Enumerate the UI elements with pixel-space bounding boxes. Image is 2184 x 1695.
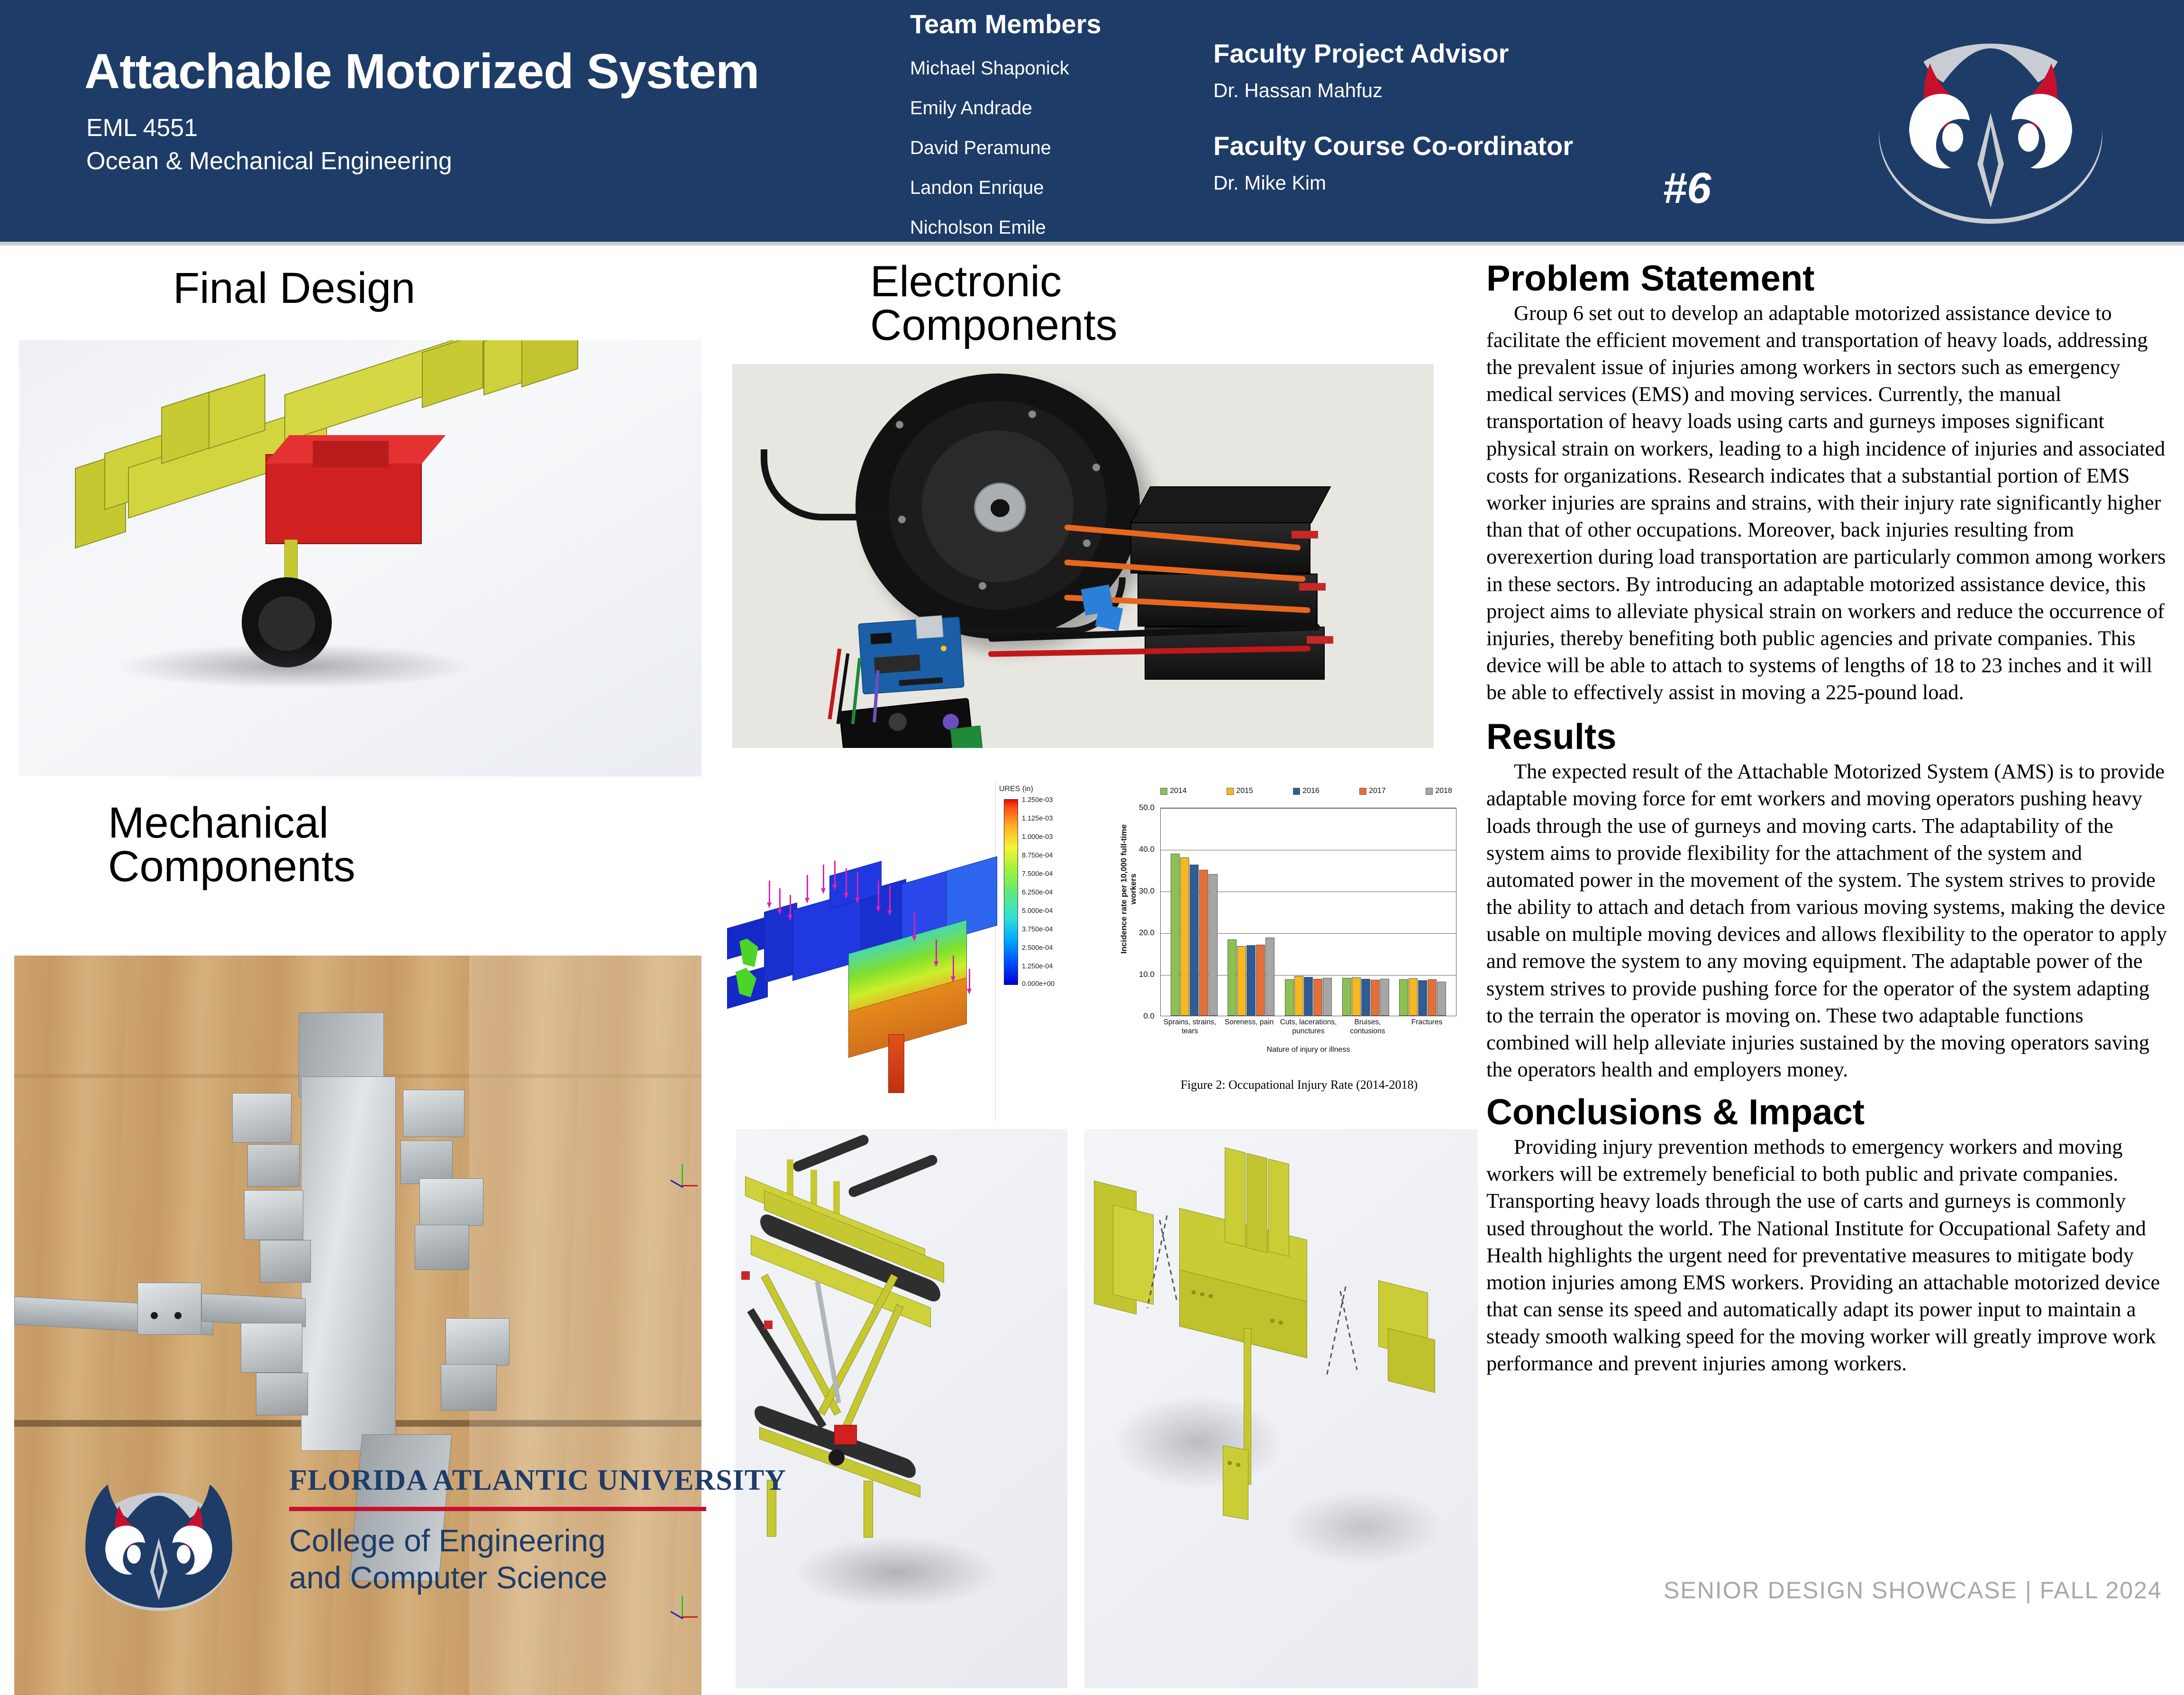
fau-owl-logo-footer-icon (59, 1450, 258, 1640)
chart-bar (1294, 976, 1303, 1016)
chart-category-group (1171, 808, 1218, 1016)
fea-tick: 0.000e+00 (1022, 980, 1055, 988)
chart-bar (1437, 982, 1446, 1016)
faculty-coordinator-name: Dr. Mike Kim (1213, 172, 1573, 194)
fea-displacement-plot: URES (in) 1.250e-03 1.125e-03 1.000e-03 … (713, 780, 1106, 1121)
team-member-name: Landon Enrique (910, 177, 1101, 199)
chart-x-tick-label: Sprains, strains, tears (1160, 1018, 1219, 1036)
chart-bar (1265, 938, 1274, 1016)
chart-bar (1323, 978, 1332, 1016)
chart-legend-item: 2017 (1359, 787, 1386, 795)
chart-y-tick-label: 10.0 (1126, 970, 1155, 979)
college-line2: and Computer Science (289, 1560, 607, 1595)
electronic-components-photo (732, 364, 1434, 748)
fau-wordmark: FLORIDA ATLANTIC UNIVERSITY College of E… (289, 1464, 706, 1596)
chart-category-group (1285, 808, 1332, 1016)
faculty-advisor-heading: Faculty Project Advisor (1213, 38, 1573, 69)
electronic-components-heading: Electronic Components (870, 260, 1297, 347)
chart-bar (1342, 978, 1351, 1016)
legend-swatch (1426, 788, 1433, 795)
chart-caption: Figure 2: Occupational Injury Rate (2014… (1107, 1078, 1491, 1092)
exploded-bracket-cad-render (1084, 1129, 1478, 1688)
chart-bar (1399, 979, 1408, 1016)
chart-y-tick-label: 0.0 (1126, 1012, 1155, 1021)
fea-tick: 1.125e-03 (1022, 815, 1053, 822)
chart-x-tick-label: Fractures (1397, 1018, 1456, 1036)
chart-x-tick-label: Bruises, contusions (1338, 1018, 1397, 1036)
chart-bar (1256, 945, 1265, 1016)
chart-bars (1161, 808, 1456, 1016)
gurney-cad-render (736, 1129, 1067, 1688)
chart-legend-item: 2014 (1160, 787, 1187, 795)
conclusions-text: Providing injury prevention methods to e… (1486, 1133, 2169, 1377)
university-name: FLORIDA ATLANTIC UNIVERSITY (289, 1464, 706, 1497)
chart-bar (1228, 939, 1237, 1016)
chart-category-group (1399, 808, 1446, 1016)
fea-tick: 1.250e-03 (1022, 796, 1053, 804)
fea-tick: 1.000e-03 (1022, 833, 1053, 841)
chart-bar (1313, 979, 1322, 1016)
chart-bar (1371, 980, 1380, 1016)
chart-y-tick-label: 20.0 (1126, 928, 1155, 938)
team-members-block: Team Members Michael Shaponick Emily And… (910, 9, 1101, 238)
legend-swatch (1359, 788, 1366, 795)
fea-tick: 3.750e-04 (1022, 926, 1053, 933)
group-number-badge: #6 (1663, 164, 1711, 213)
chart-bar (1199, 870, 1208, 1016)
department-name: Ocean & Mechanical Engineering (86, 147, 452, 175)
page-title: Attachable Motorized System (84, 44, 759, 100)
course-code: EML 4551 (86, 114, 198, 142)
chart-category-group (1228, 808, 1274, 1016)
poster-header: Attachable Motorized System EML 4551 Oce… (0, 0, 2184, 245)
chart-x-tick-label: Cuts, lacerations, punctures (1279, 1018, 1338, 1036)
chart-plot-area (1160, 808, 1456, 1016)
occupational-injury-rate-chart: 20142015201620172018 Incidence rate per … (1107, 780, 1491, 1121)
fau-owl-logo-icon (1839, 22, 2142, 226)
chart-bar (1285, 979, 1294, 1016)
college-line1: College of Engineering (289, 1523, 606, 1558)
fea-tick: 5.000e-04 (1022, 907, 1053, 915)
legend-swatch (1293, 788, 1300, 795)
chart-bar (1428, 979, 1437, 1016)
chart-bar (1418, 980, 1427, 1016)
legend-label: 2015 (1236, 787, 1253, 795)
final-design-render-image (19, 340, 701, 776)
header-divider (0, 242, 2184, 246)
fea-legend-title: URES (in) (999, 785, 1033, 793)
chart-bar (1190, 865, 1199, 1016)
chart-y-tick-label: 30.0 (1126, 886, 1155, 896)
showcase-footer-text: SENIOR DESIGN SHOWCASE | FALL 2024 (1664, 1577, 2162, 1604)
mechanical-heading-line2: Components (108, 842, 355, 891)
mechanical-components-heading: Mechanical Components (108, 801, 582, 888)
results-text: The expected result of the Attachable Mo… (1486, 758, 2169, 1083)
chart-bar (1209, 874, 1218, 1016)
fea-tick: 1.250e-04 (1022, 963, 1053, 970)
chart-y-tick-label: 40.0 (1126, 845, 1155, 854)
chart-x-tick-label: Soreness, pain (1219, 1018, 1279, 1036)
fea-tick: 8.750e-04 (1022, 852, 1053, 859)
chart-y-tick-label: 50.0 (1126, 803, 1155, 812)
fea-tick: 2.500e-04 (1022, 944, 1053, 952)
team-member-name: Emily Andrade (910, 98, 1101, 119)
team-member-name: Nicholson Emile (910, 217, 1101, 238)
chart-bar (1180, 857, 1189, 1016)
fea-tick: 7.500e-04 (1022, 870, 1053, 878)
chart-bar (1352, 977, 1361, 1016)
conclusions-heading: Conclusions & Impact (1486, 1094, 2169, 1131)
legend-label: 2014 (1170, 787, 1187, 795)
chart-bar (1380, 979, 1389, 1016)
chart-legend-item: 2018 (1426, 787, 1452, 795)
chart-bar (1171, 854, 1180, 1016)
fea-colorbar (1004, 799, 1018, 985)
final-design-heading: Final Design (173, 266, 415, 310)
faculty-block: Faculty Project Advisor Dr. Hassan Mahfu… (1213, 38, 1573, 194)
mechanical-heading-line1: Mechanical (108, 799, 328, 847)
right-text-column: Problem Statement Group 6 set out to dev… (1486, 260, 2169, 1377)
problem-statement-text: Group 6 set out to develop an adaptable … (1486, 300, 2169, 706)
chart-category-group (1342, 808, 1389, 1016)
legend-label: 2017 (1369, 787, 1386, 795)
electronic-heading-line2: Components (870, 301, 1118, 349)
wordmark-divider (289, 1507, 706, 1511)
problem-statement-heading: Problem Statement (1486, 260, 2169, 298)
team-member-name: Michael Shaponick (910, 58, 1101, 79)
chart-legend: 20142015201620172018 (1140, 783, 1472, 799)
fea-tick: 6.250e-04 (1022, 889, 1053, 896)
chart-bar (1247, 945, 1256, 1016)
faculty-advisor-name: Dr. Hassan Mahfuz (1213, 79, 1573, 102)
chart-bar (1237, 946, 1246, 1016)
faculty-coordinator-heading: Faculty Course Co-ordinator (1213, 130, 1573, 161)
chart-bar (1409, 978, 1418, 1016)
chart-x-tick-labels: Sprains, strains, tearsSoreness, painCut… (1160, 1018, 1456, 1036)
legend-label: 2016 (1302, 787, 1319, 795)
legend-label: 2018 (1435, 787, 1452, 795)
chart-bar (1361, 979, 1370, 1016)
chart-legend-item: 2016 (1293, 787, 1319, 795)
chart-legend-item: 2015 (1227, 787, 1253, 795)
chart-x-axis-label: Nature of injury or illness (1160, 1046, 1456, 1054)
results-heading: Results (1486, 718, 2169, 756)
team-member-name: David Peramune (910, 137, 1101, 159)
legend-swatch (1160, 788, 1167, 795)
college-name: College of Engineering and Computer Scie… (289, 1522, 706, 1596)
chart-bar (1304, 977, 1313, 1016)
electronic-heading-line1: Electronic (870, 257, 1062, 306)
legend-swatch (1227, 788, 1234, 795)
team-members-heading: Team Members (910, 9, 1101, 39)
